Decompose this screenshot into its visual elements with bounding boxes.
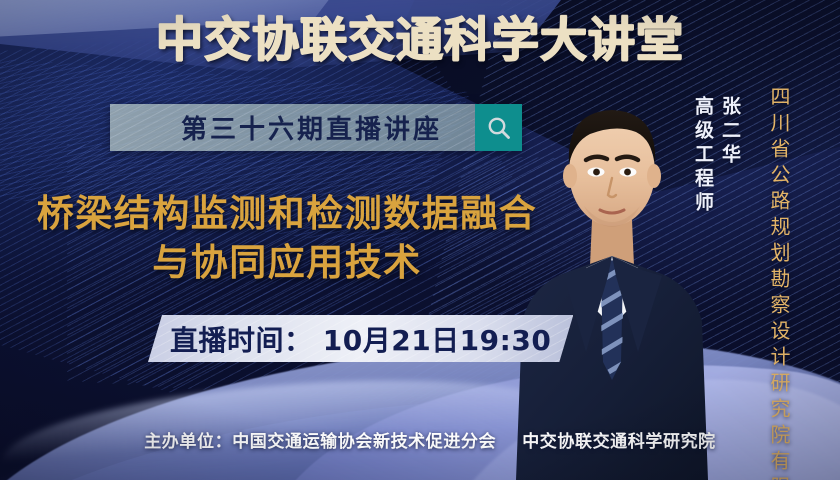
search-icon-container[interactable] <box>475 104 522 151</box>
speaker-role: 高级工程师 <box>690 96 717 216</box>
lecture-title-line-2: 与协同应用技术 <box>22 239 552 288</box>
search-icon <box>486 115 512 141</box>
event-poster: 中交协联交通科学大讲堂 第三十六期直播讲座 桥梁结构监测和检测数据融合 与协同应… <box>0 0 840 480</box>
lecture-title: 桥梁结构监测和检测数据融合 与协同应用技术 <box>22 190 552 288</box>
episode-banner: 第三十六期直播讲座 <box>110 104 522 151</box>
organizer-secondary: 中交协联交通科学研究院 <box>522 432 716 452</box>
episode-banner-label: 第三十六期直播讲座 <box>110 104 475 151</box>
speaker-name: 张二华 <box>717 96 744 200</box>
organizer-primary: 中国交通运输协会新技术促进分会 <box>232 432 496 452</box>
organizer-label: 主办单位： <box>144 432 232 452</box>
speaker-info: 张二华 高级工程师 <box>690 96 744 216</box>
page-title: 中交协联交通科学大讲堂 <box>0 16 840 65</box>
speaker-organization: 四川省公路规划勘察设计研究院有限公司 <box>765 86 794 480</box>
organizer-footer: 主办单位：中国交通运输协会新技术促进分会中交协联交通科学研究院 <box>0 427 840 452</box>
broadcast-time-banner: 直播时间： 10月21日19:30 <box>148 315 573 362</box>
lecture-title-line-1: 桥梁结构监测和检测数据融合 <box>22 190 552 239</box>
